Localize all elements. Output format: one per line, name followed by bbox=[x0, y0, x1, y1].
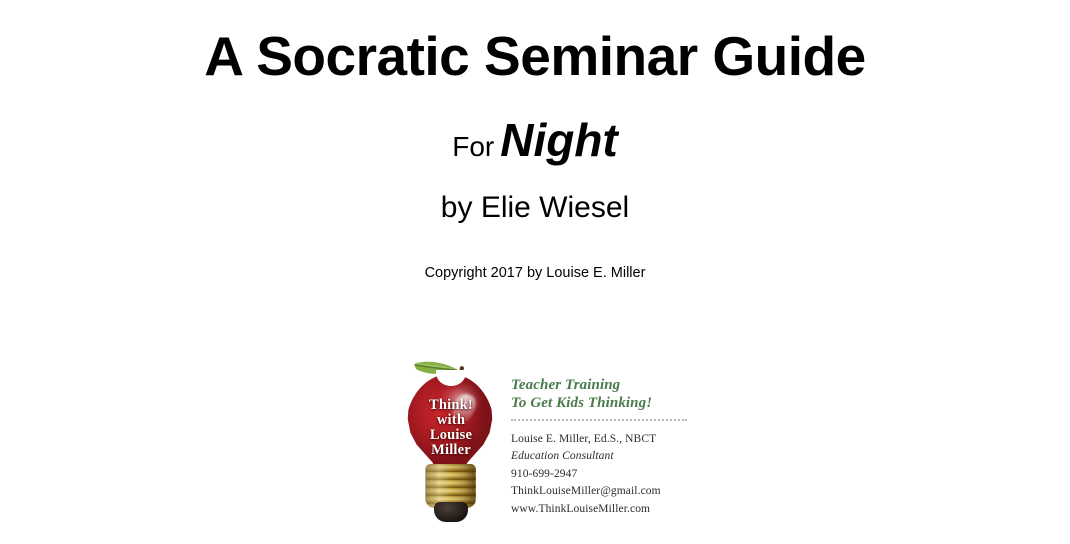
subtitle-line: ForNight bbox=[0, 87, 1070, 166]
dotted-divider bbox=[511, 419, 687, 422]
bulb-contact-tip bbox=[434, 502, 468, 522]
byline: by Elie Wiesel bbox=[0, 165, 1070, 224]
business-card-footer: Think! with Louise Miller Teacher Traini… bbox=[398, 358, 698, 533]
logo-line-1: Think! bbox=[408, 398, 494, 413]
logo-line-3: Louise bbox=[408, 428, 494, 443]
apple-lightbulb-logo: Think! with Louise Miller bbox=[398, 358, 508, 533]
tagline-line-2: To Get Kids Thinking! bbox=[511, 394, 697, 412]
tagline-line-1: Teacher Training bbox=[511, 376, 697, 394]
contact-phone: 910-699-2947 bbox=[511, 466, 697, 483]
subtitle-work-title: Night bbox=[494, 114, 618, 166]
subtitle-prefix: For bbox=[452, 131, 494, 162]
document-page: A Socratic Seminar Guide ForNight by Eli… bbox=[0, 0, 1070, 544]
contact-email: ThinkLouiseMiller@gmail.com bbox=[511, 483, 697, 500]
bulb-graphic: Think! with Louise Miller bbox=[398, 358, 508, 533]
page-title: A Socratic Seminar Guide bbox=[0, 0, 1070, 87]
contact-details: Louise E. Miller, Ed.S., NBCT Education … bbox=[511, 431, 697, 518]
logo-line-4: Miller bbox=[408, 443, 494, 458]
card-text-block: Teacher Training To Get Kids Thinking! L… bbox=[511, 376, 697, 518]
contact-website: www.ThinkLouiseMiller.com bbox=[511, 501, 697, 518]
logo-line-2: with bbox=[408, 413, 494, 428]
contact-role: Education Consultant bbox=[511, 448, 697, 465]
tagline: Teacher Training To Get Kids Thinking! bbox=[511, 376, 697, 412]
contact-name: Louise E. Miller, Ed.S., NBCT bbox=[511, 431, 697, 448]
copyright-notice: Copyright 2017 by Louise E. Miller bbox=[0, 224, 1070, 282]
logo-wordmark: Think! with Louise Miller bbox=[408, 398, 494, 458]
title-block: A Socratic Seminar Guide ForNight by Eli… bbox=[0, 0, 1070, 282]
